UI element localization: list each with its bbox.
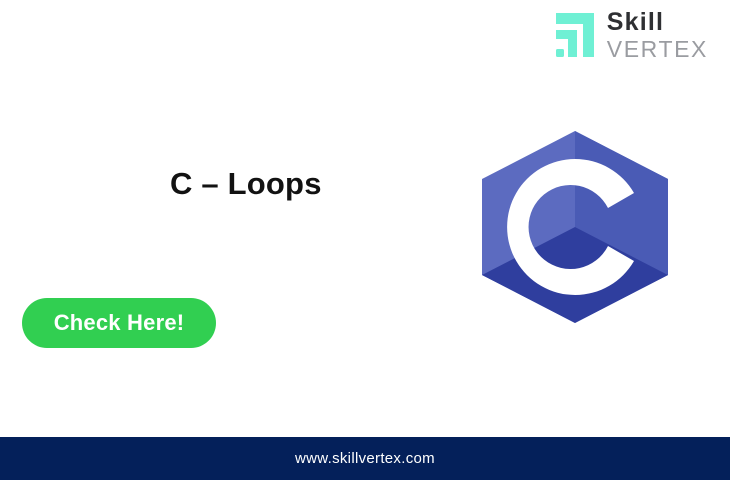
brand-name-secondary: VERTEX <box>607 37 708 61</box>
brand-wordmark: Skill VERTEX <box>607 10 708 61</box>
brand-name-primary: Skill <box>607 10 708 36</box>
check-here-button[interactable]: Check Here! <box>22 298 216 348</box>
skillvertex-bracket-logo-icon <box>552 11 598 59</box>
brand-logo[interactable]: Skill VERTEX <box>552 10 708 61</box>
slide-canvas: Skill VERTEX C – Loops Check Here! www.s… <box>0 0 730 480</box>
c-language-hexagon-logo-icon <box>482 131 668 323</box>
page-title: C – Loops <box>170 166 322 202</box>
footer-website-url[interactable]: www.skillvertex.com <box>295 450 435 467</box>
footer-bar: www.skillvertex.com <box>0 437 730 480</box>
